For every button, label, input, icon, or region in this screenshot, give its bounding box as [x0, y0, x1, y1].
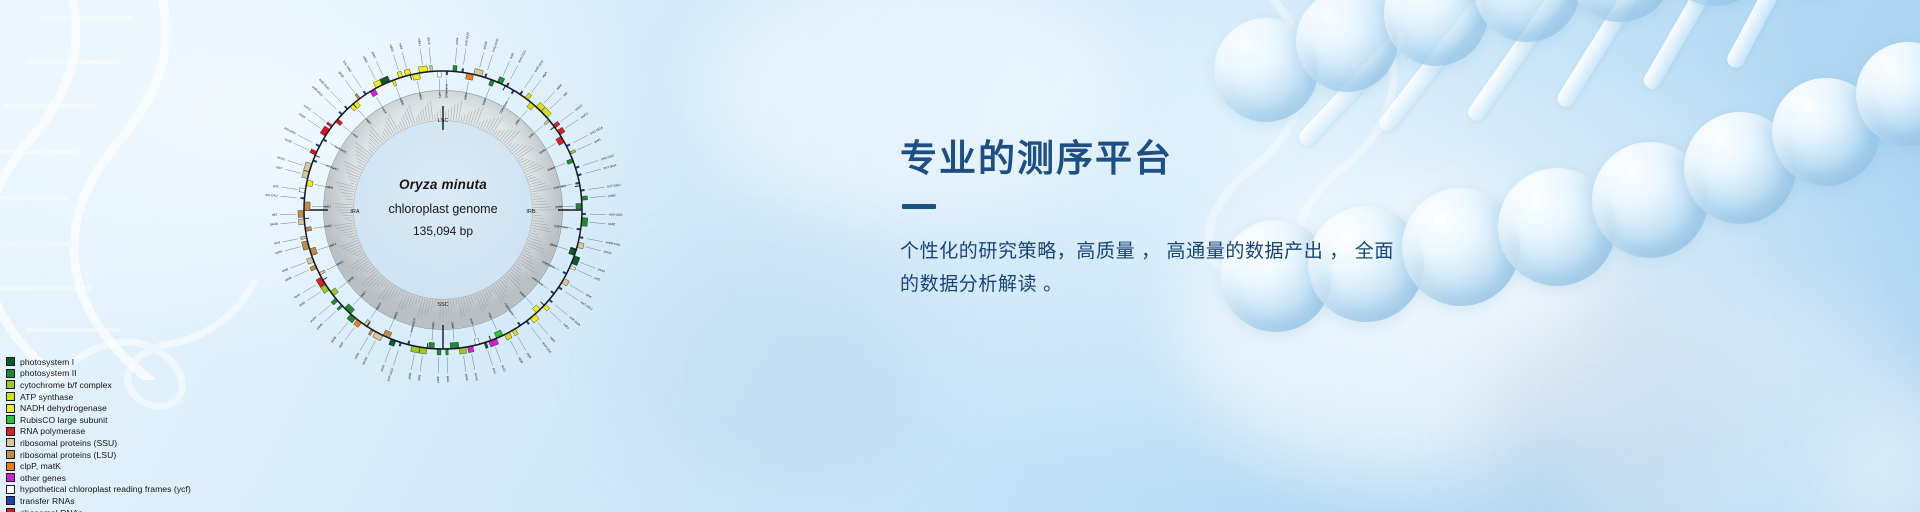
gene-label: trnN-GUU: [318, 78, 330, 91]
light-blob: [1560, 300, 1920, 512]
subcopy: 个性化的研究策略，高质量 ， 高通量的数据产出 ， 全面 的数据分析解读 。: [900, 235, 1540, 302]
legend-label: ATP synthase: [20, 392, 73, 402]
gene-label: petN: [594, 138, 602, 144]
helix-bead: [1384, 0, 1488, 66]
gene-feature: [319, 270, 325, 275]
gene-label: trnV-UAC: [541, 341, 553, 354]
legend-label: transfer RNAs: [20, 496, 75, 506]
gene-leader-line: [298, 135, 312, 142]
gene-leader-line: [318, 305, 330, 315]
gene-label: trnL-UAG: [342, 60, 353, 74]
gene-leader-line: [307, 292, 320, 301]
legend-item: photosystem I: [6, 356, 191, 368]
gene-label: trnfM-CAU: [605, 240, 620, 247]
gene-feature: [453, 65, 457, 71]
gene-label: rps18: [361, 356, 368, 365]
gene-leader-line: [303, 285, 317, 293]
helix-bead: [1296, 0, 1398, 92]
gene-feature: [462, 68, 464, 71]
gene-feature: [459, 348, 467, 354]
gene-feature: [485, 74, 487, 78]
gene-label: rps16: [482, 41, 488, 50]
gene-leader-line: [495, 347, 501, 362]
gene-leader-line: [480, 52, 484, 67]
gene-leader-line: [325, 311, 337, 322]
gene-label: ycf3: [594, 276, 601, 282]
legend-label: cytochrome b/f complex: [20, 380, 112, 390]
legend-label: clpP, matK: [20, 461, 61, 471]
gene-label: rpoA: [293, 292, 301, 299]
legend-label: RubisCO large subunit: [20, 415, 108, 425]
gene-leader-line: [338, 322, 348, 334]
gene-label: trnP-UGG: [386, 367, 394, 382]
gene-leader-line: [325, 98, 337, 109]
gene-label: atpI: [562, 91, 569, 98]
gene-feature: [339, 111, 342, 114]
gene-label: cemA: [474, 372, 480, 381]
gene-leader-line: [531, 327, 541, 340]
genome-length-label: 135,094 bp: [243, 222, 643, 241]
gene-label: rrn4.5: [303, 104, 312, 112]
gene-leader-line: [472, 354, 475, 370]
gene-feature: [570, 150, 576, 154]
region-label: SSC: [437, 302, 448, 308]
gene-label: rrn23: [298, 112, 306, 119]
gene-leader-line: [464, 49, 466, 65]
gene-feature: [320, 126, 329, 136]
gene-label: rps14: [603, 249, 612, 255]
gene-label: rps15: [427, 37, 432, 45]
gene-label: psbF: [436, 376, 440, 383]
gene-feature: [373, 332, 383, 341]
gene-leader-line: [464, 356, 466, 372]
headline-divider: [902, 204, 936, 209]
gene-label: psbA: [455, 36, 460, 44]
gene-leader-line: [585, 247, 600, 251]
gene-label: clpP: [338, 341, 345, 348]
gene-feature: [399, 343, 401, 347]
gene-feature: [363, 91, 366, 95]
legend-item: RubisCO large subunit: [6, 414, 191, 426]
gene-label: rps3: [274, 240, 281, 245]
gene-label: trnF-GAA: [569, 315, 582, 327]
gene-label: psbE: [431, 321, 436, 328]
legend-color-swatch: [6, 438, 15, 447]
helix-bead: [1474, 0, 1580, 42]
gene-label: ndhC: [549, 335, 557, 344]
gene-label: psbH: [309, 315, 317, 323]
gene-leader-line: [294, 143, 309, 150]
legend-color-swatch: [6, 427, 15, 436]
gene-feature: [466, 74, 474, 81]
gene-label: trnQ-UUG: [491, 37, 499, 52]
gene-label: trnR-UCU: [533, 59, 544, 73]
gene-leader-line: [565, 292, 578, 301]
gene-feature: [578, 242, 585, 249]
gene-label: atpB: [518, 356, 524, 363]
legend-item: ATP synthase: [6, 391, 191, 403]
gene-feature: [517, 322, 520, 326]
gene-leader-line: [580, 262, 595, 268]
gene-leader-line: [555, 305, 567, 315]
gene-feature: [368, 330, 373, 336]
legend-label: NADH dehydrogenase: [20, 403, 107, 413]
gene-label: petD: [298, 300, 306, 307]
helix-bead: [1684, 112, 1796, 224]
legend-item: ribosomal RNAs: [6, 507, 191, 512]
gene-leader-line: [411, 354, 414, 370]
gene-leader-line: [368, 341, 375, 355]
legend-label: RNA polymerase: [20, 426, 85, 436]
legend-item: NADH dehydrogenase: [6, 402, 191, 414]
legend-item: ribosomal proteins (LSU): [6, 449, 191, 461]
gene-feature: [468, 346, 474, 352]
gene-feature: [570, 266, 576, 270]
gene-label: trnT-UGU: [580, 300, 593, 311]
gene-feature: [347, 314, 356, 323]
gene-label: rpl20: [353, 352, 360, 360]
gene-feature: [506, 83, 509, 87]
legend-color-swatch: [6, 380, 15, 389]
gene-feature: [355, 93, 360, 99]
banner-copy: 专业的测序平台 个性化的研究策略，高质量 ， 高通量的数据产出 ， 全面 的数据…: [900, 140, 1540, 302]
gene-label: ndhH: [417, 38, 422, 46]
gene-leader-line: [565, 119, 578, 128]
light-blob: [1820, 400, 1920, 512]
gene-label: atpA: [541, 70, 549, 78]
legend-label: photosystem I: [20, 357, 74, 367]
gene-label: ycf1: [438, 92, 442, 98]
gene-feature: [413, 74, 421, 81]
gene-feature: [408, 341, 410, 344]
legend-item: clpP, matK: [6, 460, 191, 472]
helix-bead: [1214, 18, 1318, 122]
gene-feature: [559, 287, 563, 290]
gene-leader-line: [294, 270, 309, 277]
legend-label: photosystem II: [20, 368, 77, 378]
gene-label: psaA: [597, 267, 606, 274]
gene-leader-line: [402, 52, 406, 67]
legend-color-swatch: [6, 392, 15, 401]
legend-color-swatch: [6, 369, 15, 378]
kb-tick: [541, 302, 545, 306]
legend-color-swatch: [6, 415, 15, 424]
gene-leader-line: [525, 74, 534, 87]
gene-label: psbJ: [450, 321, 455, 328]
genome-legend: photosystem Iphotosystem IIcytochrome b/…: [6, 356, 191, 512]
gene-label: trnY-GUA: [603, 163, 618, 170]
gene-leader-line: [550, 311, 562, 322]
helix-rod: [1641, 0, 1736, 92]
gene-leader-line: [570, 285, 584, 293]
gene-feature: [430, 65, 433, 71]
gene-label: ndhI: [398, 43, 403, 50]
gene-feature: [419, 66, 428, 73]
gene-leader-line: [352, 74, 361, 87]
gene-leader-line: [510, 341, 517, 355]
gene-leader-line: [331, 92, 342, 104]
gene-label: ndhG: [389, 44, 395, 53]
shadow-blob: [620, 250, 920, 490]
gene-leader-line: [360, 337, 368, 351]
gene-feature: [520, 91, 523, 95]
hero-banner: LSCIRBSSCIRAtrnH-GUGpsbAtrnK-UUUmatKrps1…: [0, 0, 1920, 512]
gene-feature: [429, 342, 435, 348]
gene-leader-line: [518, 337, 526, 351]
gene-leader-line: [288, 161, 303, 166]
gene-feature: [484, 343, 488, 349]
gene-label: trnS-GCU: [517, 49, 527, 63]
legend-item: RNA polymerase: [6, 426, 191, 438]
gene-label: petG: [407, 372, 412, 380]
gene-label: psbB: [330, 335, 338, 343]
gene-label: rpoC1: [580, 111, 589, 119]
helix-bead: [1856, 42, 1920, 146]
shadow-blob: [1480, 300, 1740, 512]
gene-leader-line: [531, 80, 541, 93]
gene-leader-line: [488, 55, 493, 70]
gene-leader-line: [394, 55, 399, 70]
legend-color-swatch: [6, 462, 15, 471]
legend-color-swatch: [6, 404, 15, 413]
gene-leader-line: [510, 65, 517, 79]
gene-feature: [567, 144, 571, 147]
gene-label: petL: [417, 374, 422, 381]
helix-bead: [1566, 0, 1674, 22]
gene-feature: [337, 305, 343, 310]
gene-feature: [326, 122, 332, 127]
gene-feature: [563, 271, 567, 274]
gene-leader-line: [585, 169, 600, 173]
gene-label: psbI: [509, 52, 515, 59]
gene-feature: [323, 139, 327, 142]
legend-label: ribosomal proteins (LSU): [20, 450, 116, 460]
legend-item: transfer RNAs: [6, 495, 191, 507]
legend-color-swatch: [6, 496, 15, 505]
gene-feature: [551, 291, 555, 294]
gene-feature: [316, 144, 320, 147]
gene-feature: [567, 159, 573, 165]
gene-feature: [313, 160, 317, 163]
gene-label: rps12: [277, 155, 286, 161]
gene-leader-line: [429, 48, 430, 64]
gene-feature: [446, 72, 448, 75]
gene-label: trnD-GUC: [600, 153, 615, 161]
gene-label: rrn16: [284, 137, 292, 144]
gene-label: rpl16: [275, 249, 283, 255]
legend-color-swatch: [6, 450, 15, 459]
legend-color-swatch: [6, 473, 15, 482]
gene-label: atpH: [555, 83, 562, 91]
gene-leader-line: [285, 169, 300, 173]
gene-label: trnR-ACG: [311, 85, 324, 98]
gene-leader-line: [285, 247, 300, 251]
gene-leader-line: [503, 61, 510, 76]
helix-rod: [1296, 28, 1411, 149]
genome-center-caption: Oryza minuta chloroplast genome 135,094 …: [243, 175, 643, 241]
gene-feature: [393, 80, 397, 86]
gene-leader-line: [345, 80, 355, 93]
helix-bead: [1772, 78, 1880, 186]
helix-bead: [1592, 142, 1708, 258]
gene-feature: [450, 342, 459, 348]
gene-feature: [576, 166, 580, 168]
gene-leader-line: [488, 350, 493, 365]
gene-leader-line: [577, 270, 592, 277]
gene-feature: [530, 314, 539, 323]
gene-label: psbL: [446, 376, 450, 383]
gene-feature: [549, 299, 552, 302]
gene-leader-line: [583, 161, 598, 166]
gene-leader-line: [574, 135, 588, 142]
gene-feature: [380, 76, 390, 84]
gene-leader-line: [368, 65, 375, 79]
gene-label: trnH-GUG: [444, 84, 448, 99]
gene-label: trnC-GCA: [589, 125, 604, 135]
gene-leader-line: [345, 327, 355, 340]
gene-label: trnK-UUU: [464, 32, 470, 46]
gene-label: rps8: [281, 267, 288, 273]
legend-label: hypothetical chloroplast reading frames …: [20, 484, 191, 494]
legend-label: ribosomal proteins (SSU): [20, 438, 117, 448]
gene-label: rpoC2: [574, 103, 583, 111]
gene-label: atpE: [526, 352, 533, 360]
gene-leader-line: [560, 112, 573, 122]
gene-label: rpl32: [338, 71, 346, 79]
gene-feature: [526, 321, 529, 325]
gene-leader-line: [307, 119, 320, 128]
legend-item: cytochrome b/f complex: [6, 379, 191, 391]
gene-label: trnI-GAU: [284, 126, 297, 135]
gene-feature: [474, 338, 479, 344]
helix-rod: [1554, 0, 1657, 110]
gene-leader-line: [291, 262, 306, 268]
gene-feature: [489, 80, 495, 86]
gene-feature: [397, 71, 402, 77]
gene-feature: [446, 350, 449, 355]
gene-label: accD: [501, 364, 508, 373]
gene-leader-line: [544, 92, 555, 104]
gene-feature: [419, 348, 427, 354]
gene-label: psaJ: [379, 364, 385, 372]
helix-rod: [1376, 0, 1488, 135]
legend-label: other genes: [20, 473, 66, 483]
species-name: Oryza minuta: [243, 175, 643, 196]
gene-leader-line: [455, 48, 456, 64]
gene-leader-line: [420, 356, 422, 372]
legend-color-swatch: [6, 508, 15, 512]
gene-feature: [344, 106, 347, 109]
gene-feature: [404, 69, 411, 76]
gene-leader-line: [385, 347, 391, 362]
chloroplast-genome-map: LSCIRBSSCIRAtrnH-GUGpsbAtrnK-UUUmatKrps1…: [243, 10, 643, 410]
gene-leader-line: [394, 350, 399, 365]
legend-label: ribosomal RNAs: [20, 508, 83, 512]
headline: 专业的测序平台: [900, 140, 1540, 177]
legend-item: other genes: [6, 472, 191, 484]
gene-leader-line: [313, 112, 326, 122]
gene-leader-line: [538, 322, 548, 334]
gene-leader-line: [376, 61, 383, 76]
gene-leader-line: [550, 98, 562, 109]
helix-rod: [1465, 0, 1575, 124]
gene-feature: [437, 349, 441, 355]
gene-feature: [437, 72, 441, 78]
gene-leader-line: [577, 143, 592, 150]
region-label: LSC: [438, 118, 449, 124]
gene-label: rps7: [276, 165, 283, 170]
gene-label: psbN: [316, 322, 324, 330]
gene-label: petA: [464, 374, 469, 382]
legend-color-swatch: [6, 357, 15, 366]
gene-feature: [511, 90, 514, 94]
helix-rod: [1724, 0, 1809, 71]
gene-label: psaC: [371, 51, 378, 60]
gene-label: ndhD: [362, 55, 369, 64]
gene-feature: [544, 120, 550, 125]
helix-bead: [1660, 0, 1770, 6]
genome-type-label: chloroplast genome: [243, 200, 643, 219]
gene-label: rpl36: [284, 276, 292, 283]
legend-item: photosystem II: [6, 368, 191, 380]
legend-color-swatch: [6, 485, 15, 494]
legend-item: hypothetical chloroplast reading frames …: [6, 484, 191, 496]
gene-leader-line: [420, 49, 422, 65]
gene-label: rps4: [585, 292, 592, 299]
legend-item: ribosomal proteins (SSU): [6, 437, 191, 449]
gene-label: psaI: [492, 367, 498, 374]
gene-label: ndhJ: [562, 322, 570, 330]
